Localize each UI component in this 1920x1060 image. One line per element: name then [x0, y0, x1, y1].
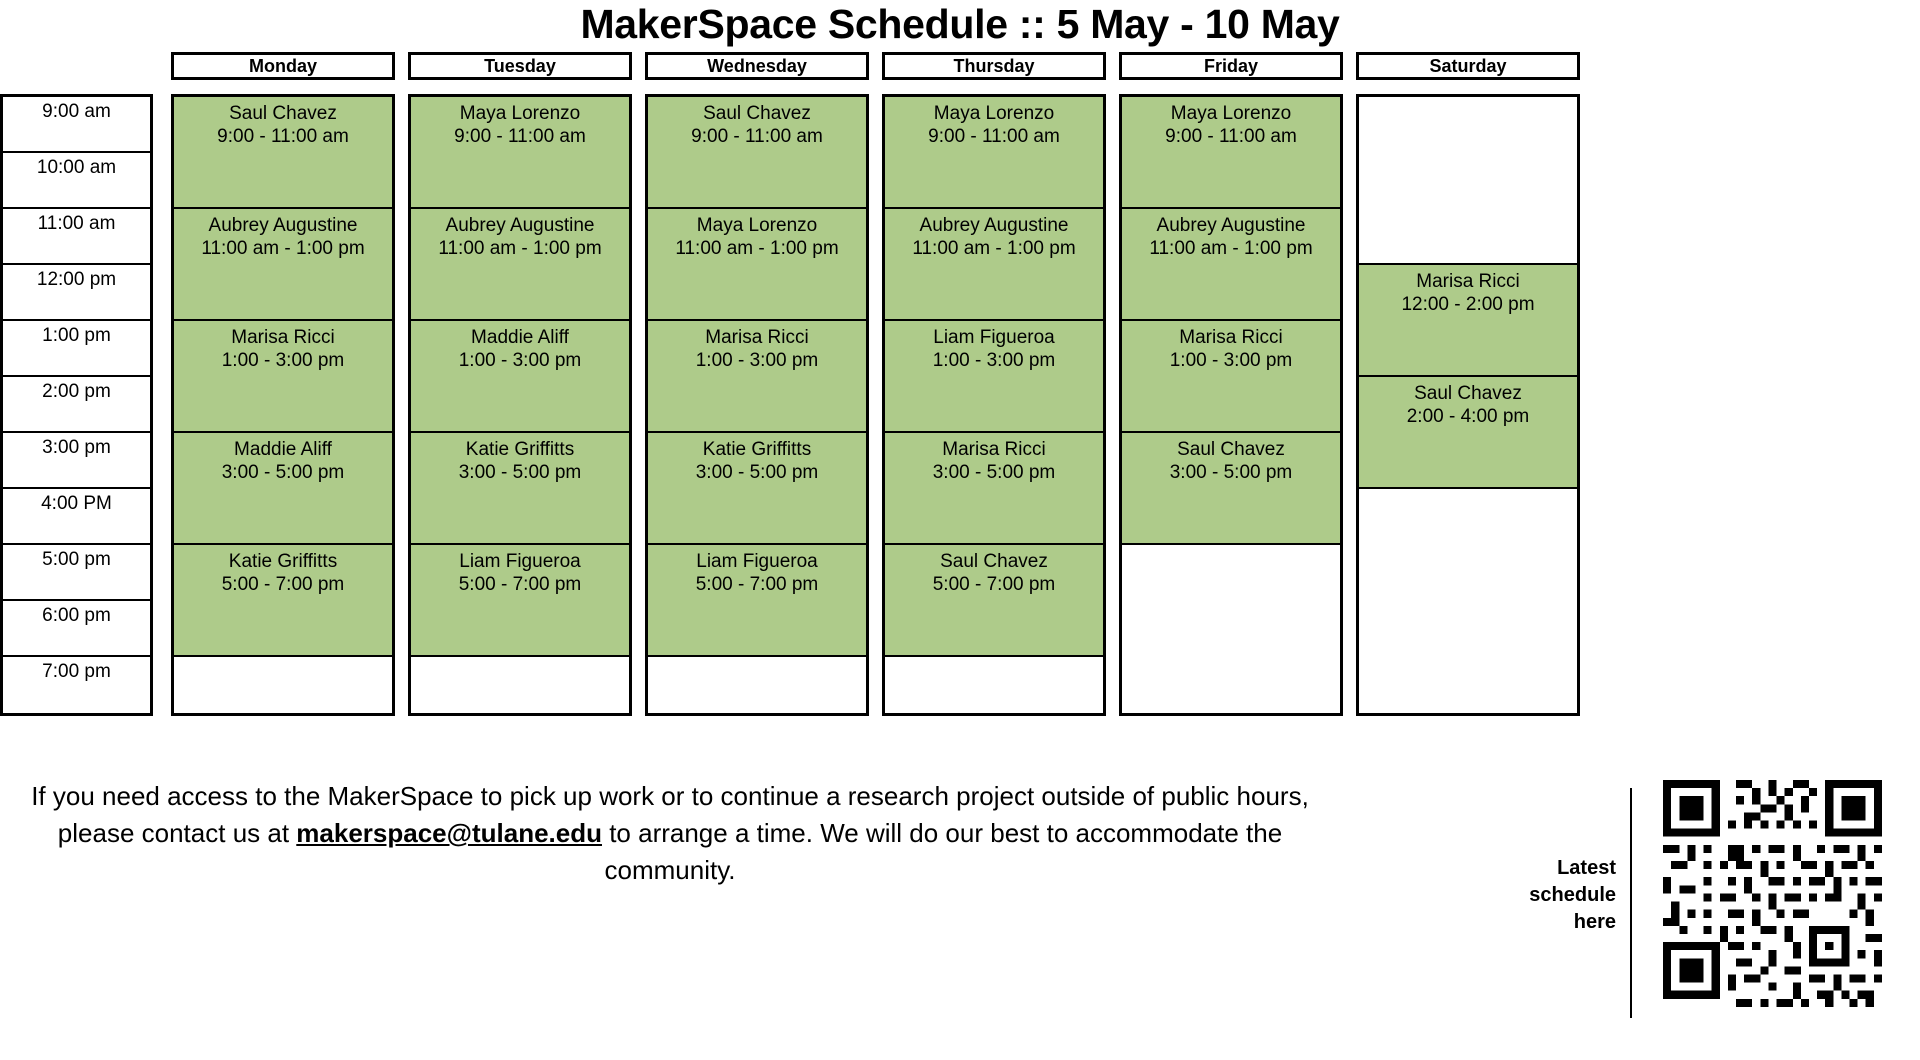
day-column-monday: Saul Chavez9:00 - 11:00 amAubrey Augusti…: [171, 94, 395, 716]
slot-person-name: Marisa Ricci: [1122, 326, 1340, 349]
slot-time-range: 2:00 - 4:00 pm: [1359, 405, 1577, 428]
slot-person-name: Maya Lorenzo: [411, 102, 629, 125]
schedule-slot-booked[interactable]: Katie Griffitts3:00 - 5:00 pm: [411, 433, 629, 545]
time-label: 6:00 pm: [3, 601, 150, 657]
slot-time-range: 11:00 am - 1:00 pm: [885, 237, 1103, 260]
schedule-slot-booked[interactable]: Saul Chavez3:00 - 5:00 pm: [1122, 433, 1340, 545]
time-gutter: 9:00 am10:00 am11:00 am12:00 pm1:00 pm2:…: [0, 94, 153, 716]
slot-person-name: Maya Lorenzo: [885, 102, 1103, 125]
slot-time-range: 5:00 - 7:00 pm: [885, 573, 1103, 596]
schedule-slot-empty[interactable]: [1359, 489, 1577, 713]
time-label: 9:00 am: [3, 97, 150, 153]
slot-time-range: 5:00 - 7:00 pm: [174, 573, 392, 596]
schedule-slot-booked[interactable]: Saul Chavez5:00 - 7:00 pm: [885, 545, 1103, 657]
schedule-slot-booked[interactable]: Katie Griffitts3:00 - 5:00 pm: [648, 433, 866, 545]
slot-person-name: Saul Chavez: [1122, 438, 1340, 461]
slot-time-range: 3:00 - 5:00 pm: [174, 461, 392, 484]
schedule-slot-empty[interactable]: [1359, 97, 1577, 265]
schedule-slot-booked[interactable]: Aubrey Augustine11:00 am - 1:00 pm: [1122, 209, 1340, 321]
schedule-slot-booked[interactable]: Marisa Ricci3:00 - 5:00 pm: [885, 433, 1103, 545]
access-note-line2-after: to arrange a time. We will do our best t…: [602, 818, 1282, 848]
slot-person-name: Katie Griffitts: [174, 550, 392, 573]
slot-time-range: 9:00 - 11:00 am: [1122, 125, 1340, 148]
slot-time-range: 11:00 am - 1:00 pm: [1122, 237, 1340, 260]
slot-person-name: Saul Chavez: [885, 550, 1103, 573]
day-column-saturday: Marisa Ricci12:00 - 2:00 pmSaul Chavez2:…: [1356, 94, 1580, 716]
slot-time-range: 11:00 am - 1:00 pm: [411, 237, 629, 260]
schedule-slot-booked[interactable]: Marisa Ricci1:00 - 3:00 pm: [1122, 321, 1340, 433]
schedule-slot-booked[interactable]: Aubrey Augustine11:00 am - 1:00 pm: [885, 209, 1103, 321]
time-label: 2:00 pm: [3, 377, 150, 433]
slot-person-name: Liam Figueroa: [885, 326, 1103, 349]
time-label: 4:00 PM: [3, 489, 150, 545]
slot-time-range: 1:00 - 3:00 pm: [174, 349, 392, 372]
slot-person-name: Liam Figueroa: [648, 550, 866, 573]
footer: If you need access to the MakerSpace to …: [0, 770, 1920, 1060]
slot-person-name: Aubrey Augustine: [411, 214, 629, 237]
slot-time-range: 9:00 - 11:00 am: [411, 125, 629, 148]
qr-code-image[interactable]: [1655, 770, 1890, 1030]
slot-time-range: 3:00 - 5:00 pm: [648, 461, 866, 484]
slot-time-range: 3:00 - 5:00 pm: [411, 461, 629, 484]
slot-person-name: Katie Griffitts: [648, 438, 866, 461]
slot-person-name: Marisa Ricci: [648, 326, 866, 349]
day-header-tuesday: Tuesday: [408, 52, 632, 80]
schedule-slot-booked[interactable]: Marisa Ricci1:00 - 3:00 pm: [648, 321, 866, 433]
slot-person-name: Liam Figueroa: [411, 550, 629, 573]
schedule-slot-booked[interactable]: Katie Griffitts5:00 - 7:00 pm: [174, 545, 392, 657]
schedule-slot-empty[interactable]: [174, 657, 392, 713]
slot-time-range: 9:00 - 11:00 am: [174, 125, 392, 148]
slot-time-range: 9:00 - 11:00 am: [885, 125, 1103, 148]
schedule-slot-booked[interactable]: Aubrey Augustine11:00 am - 1:00 pm: [411, 209, 629, 321]
qr-divider: [1630, 788, 1632, 1018]
slot-person-name: Saul Chavez: [1359, 382, 1577, 405]
slot-time-range: 1:00 - 3:00 pm: [411, 349, 629, 372]
slot-person-name: Marisa Ricci: [885, 438, 1103, 461]
day-header-thursday: Thursday: [882, 52, 1106, 80]
slot-person-name: Maya Lorenzo: [648, 214, 866, 237]
schedule-slot-booked[interactable]: Marisa Ricci1:00 - 3:00 pm: [174, 321, 392, 433]
day-header-friday: Friday: [1119, 52, 1343, 80]
slot-person-name: Marisa Ricci: [1359, 270, 1577, 293]
schedule-slot-booked[interactable]: Maya Lorenzo9:00 - 11:00 am: [1122, 97, 1340, 209]
day-column-wednesday: Saul Chavez9:00 - 11:00 amMaya Lorenzo11…: [645, 94, 869, 716]
time-label: 10:00 am: [3, 153, 150, 209]
access-note-line1: If you need access to the MakerSpace to …: [31, 781, 1309, 811]
slot-time-range: 1:00 - 3:00 pm: [648, 349, 866, 372]
schedule-slot-empty[interactable]: [885, 657, 1103, 713]
schedule-slot-empty[interactable]: [648, 657, 866, 713]
schedule-slot-booked[interactable]: Liam Figueroa5:00 - 7:00 pm: [411, 545, 629, 657]
schedule-slot-booked[interactable]: Maddie Aliff3:00 - 5:00 pm: [174, 433, 392, 545]
qr-label: Latest schedule here: [1520, 855, 1616, 936]
slot-person-name: Maddie Aliff: [174, 438, 392, 461]
slot-time-range: 12:00 - 2:00 pm: [1359, 293, 1577, 316]
schedule-slot-booked[interactable]: Aubrey Augustine11:00 am - 1:00 pm: [174, 209, 392, 321]
schedule-slot-empty[interactable]: [1122, 545, 1340, 713]
slot-time-range: 3:00 - 5:00 pm: [1122, 461, 1340, 484]
time-label: 12:00 pm: [3, 265, 150, 321]
slot-person-name: Maya Lorenzo: [1122, 102, 1340, 125]
time-label: 5:00 pm: [3, 545, 150, 601]
day-header-saturday: Saturday: [1356, 52, 1580, 80]
schedule-slot-booked[interactable]: Saul Chavez2:00 - 4:00 pm: [1359, 377, 1577, 489]
slot-time-range: 11:00 am - 1:00 pm: [174, 237, 392, 260]
day-header-row: MondayTuesdayWednesdayThursdayFridaySatu…: [0, 52, 1920, 84]
slot-time-range: 5:00 - 7:00 pm: [411, 573, 629, 596]
day-header-wednesday: Wednesday: [645, 52, 869, 80]
slot-time-range: 9:00 - 11:00 am: [648, 125, 866, 148]
time-label: 11:00 am: [3, 209, 150, 265]
slot-person-name: Aubrey Augustine: [1122, 214, 1340, 237]
day-header-monday: Monday: [171, 52, 395, 80]
qr-block: Latest schedule here: [1520, 770, 1920, 1040]
day-column-thursday: Maya Lorenzo9:00 - 11:00 amAubrey August…: [882, 94, 1106, 716]
schedule-slot-booked[interactable]: Saul Chavez9:00 - 11:00 am: [648, 97, 866, 209]
schedule-slot-booked[interactable]: Liam Figueroa5:00 - 7:00 pm: [648, 545, 866, 657]
slot-person-name: Saul Chavez: [174, 102, 392, 125]
slot-time-range: 1:00 - 3:00 pm: [1122, 349, 1340, 372]
slot-person-name: Marisa Ricci: [174, 326, 392, 349]
slot-person-name: Saul Chavez: [648, 102, 866, 125]
schedule-slot-booked[interactable]: Maddie Aliff1:00 - 3:00 pm: [411, 321, 629, 433]
slot-person-name: Katie Griffitts: [411, 438, 629, 461]
slot-time-range: 1:00 - 3:00 pm: [885, 349, 1103, 372]
slot-time-range: 3:00 - 5:00 pm: [885, 461, 1103, 484]
schedule-slot-booked[interactable]: Marisa Ricci12:00 - 2:00 pm: [1359, 265, 1577, 377]
access-note: If you need access to the MakerSpace to …: [0, 778, 1340, 889]
schedule-slot-booked[interactable]: Saul Chavez9:00 - 11:00 am: [174, 97, 392, 209]
slot-person-name: Aubrey Augustine: [885, 214, 1103, 237]
access-note-line3: community.: [605, 855, 736, 885]
slot-person-name: Maddie Aliff: [411, 326, 629, 349]
schedule-slot-booked[interactable]: Maya Lorenzo9:00 - 11:00 am: [885, 97, 1103, 209]
access-note-line2-before: please contact us at: [58, 818, 296, 848]
schedule-slot-booked[interactable]: Maya Lorenzo9:00 - 11:00 am: [411, 97, 629, 209]
schedule-calendar: MondayTuesdayWednesdayThursdayFridaySatu…: [0, 52, 1920, 757]
schedule-slot-empty[interactable]: [411, 657, 629, 713]
day-column-tuesday: Maya Lorenzo9:00 - 11:00 amAubrey August…: [408, 94, 632, 716]
time-label: 7:00 pm: [3, 657, 150, 713]
schedule-slot-booked[interactable]: Maya Lorenzo11:00 am - 1:00 pm: [648, 209, 866, 321]
slot-time-range: 11:00 am - 1:00 pm: [648, 237, 866, 260]
page-title: MakerSpace Schedule :: 5 May - 10 May: [0, 0, 1920, 52]
makerspace-email-link[interactable]: makerspace@tulane.edu: [296, 818, 602, 848]
time-label: 3:00 pm: [3, 433, 150, 489]
time-label: 1:00 pm: [3, 321, 150, 377]
day-column-friday: Maya Lorenzo9:00 - 11:00 amAubrey August…: [1119, 94, 1343, 716]
slot-time-range: 5:00 - 7:00 pm: [648, 573, 866, 596]
slot-person-name: Aubrey Augustine: [174, 214, 392, 237]
schedule-slot-booked[interactable]: Liam Figueroa1:00 - 3:00 pm: [885, 321, 1103, 433]
